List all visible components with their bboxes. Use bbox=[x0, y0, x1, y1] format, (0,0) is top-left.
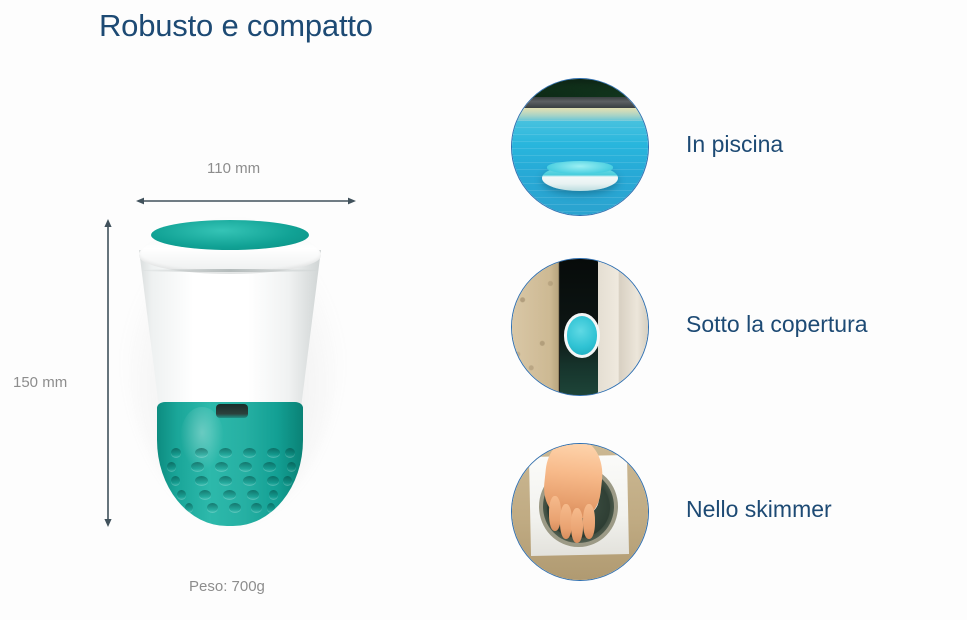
pool-scene bbox=[512, 79, 648, 215]
basket-slot bbox=[243, 448, 256, 457]
basket-slot bbox=[267, 448, 280, 457]
product-lid-teal bbox=[151, 220, 309, 250]
product-panel: 110 mm 150 mm Peso: 700g bbox=[0, 0, 480, 620]
basket-slot bbox=[177, 490, 186, 499]
feature-list: In piscina Sotto la copertura bbox=[480, 0, 967, 620]
product-basket-teal bbox=[157, 402, 303, 526]
basket-slot bbox=[219, 476, 232, 485]
feature-item-in-piscina: In piscina bbox=[480, 78, 967, 218]
feature-label-nello-skimmer: Nello skimmer bbox=[686, 496, 832, 523]
product-seam-line bbox=[141, 269, 319, 272]
finger bbox=[560, 504, 572, 539]
feature-item-nello-skimmer: Nello skimmer bbox=[480, 443, 967, 583]
basket-slot bbox=[195, 476, 208, 485]
under-cover-scene bbox=[512, 259, 648, 395]
weight-caption: Peso: 700g bbox=[189, 578, 265, 595]
floating-device-lid bbox=[547, 161, 612, 173]
finger bbox=[583, 504, 595, 539]
basket-slot bbox=[283, 476, 292, 485]
basket-slot bbox=[195, 448, 208, 457]
basket-slot bbox=[219, 448, 232, 457]
product-image bbox=[113, 216, 353, 536]
basket-slot bbox=[247, 490, 259, 499]
basket-slot bbox=[267, 476, 279, 485]
basket-slot bbox=[287, 462, 296, 471]
feature-item-sotto-la-copertura: Sotto la copertura bbox=[480, 258, 967, 398]
basket-slot bbox=[239, 462, 252, 471]
treeline bbox=[512, 79, 648, 98]
skimmer-photo-thumbnail bbox=[511, 443, 649, 581]
pool-photo-thumbnail bbox=[511, 78, 649, 216]
basket-slot bbox=[263, 462, 276, 471]
feature-label-in-piscina: In piscina bbox=[686, 131, 783, 158]
basket-slot bbox=[243, 476, 256, 485]
basket-slot bbox=[223, 490, 236, 499]
basket-slot bbox=[229, 503, 241, 512]
width-dimension-label: 110 mm bbox=[207, 160, 260, 177]
product-sensor-notch bbox=[216, 404, 248, 418]
width-dimension-arrow bbox=[136, 195, 356, 207]
basket-slot bbox=[215, 462, 228, 471]
skimmer-scene bbox=[512, 444, 648, 580]
basket-slot bbox=[199, 490, 211, 499]
height-dimension-label: 150 mm bbox=[13, 374, 67, 391]
basket-slot bbox=[285, 448, 295, 457]
basket-slot bbox=[267, 503, 275, 512]
basket-slot bbox=[171, 476, 180, 485]
basket-slot bbox=[269, 490, 278, 499]
basket-slot bbox=[191, 462, 204, 471]
basket-slot bbox=[251, 503, 262, 512]
basket-slot bbox=[171, 448, 181, 457]
basket-slot bbox=[167, 462, 176, 471]
concrete-texture bbox=[512, 259, 560, 395]
under-cover-photo-thumbnail bbox=[511, 258, 649, 396]
basket-slot bbox=[207, 503, 218, 512]
feature-label-sotto-la-copertura: Sotto la copertura bbox=[686, 311, 868, 338]
basket-slot bbox=[185, 503, 193, 512]
